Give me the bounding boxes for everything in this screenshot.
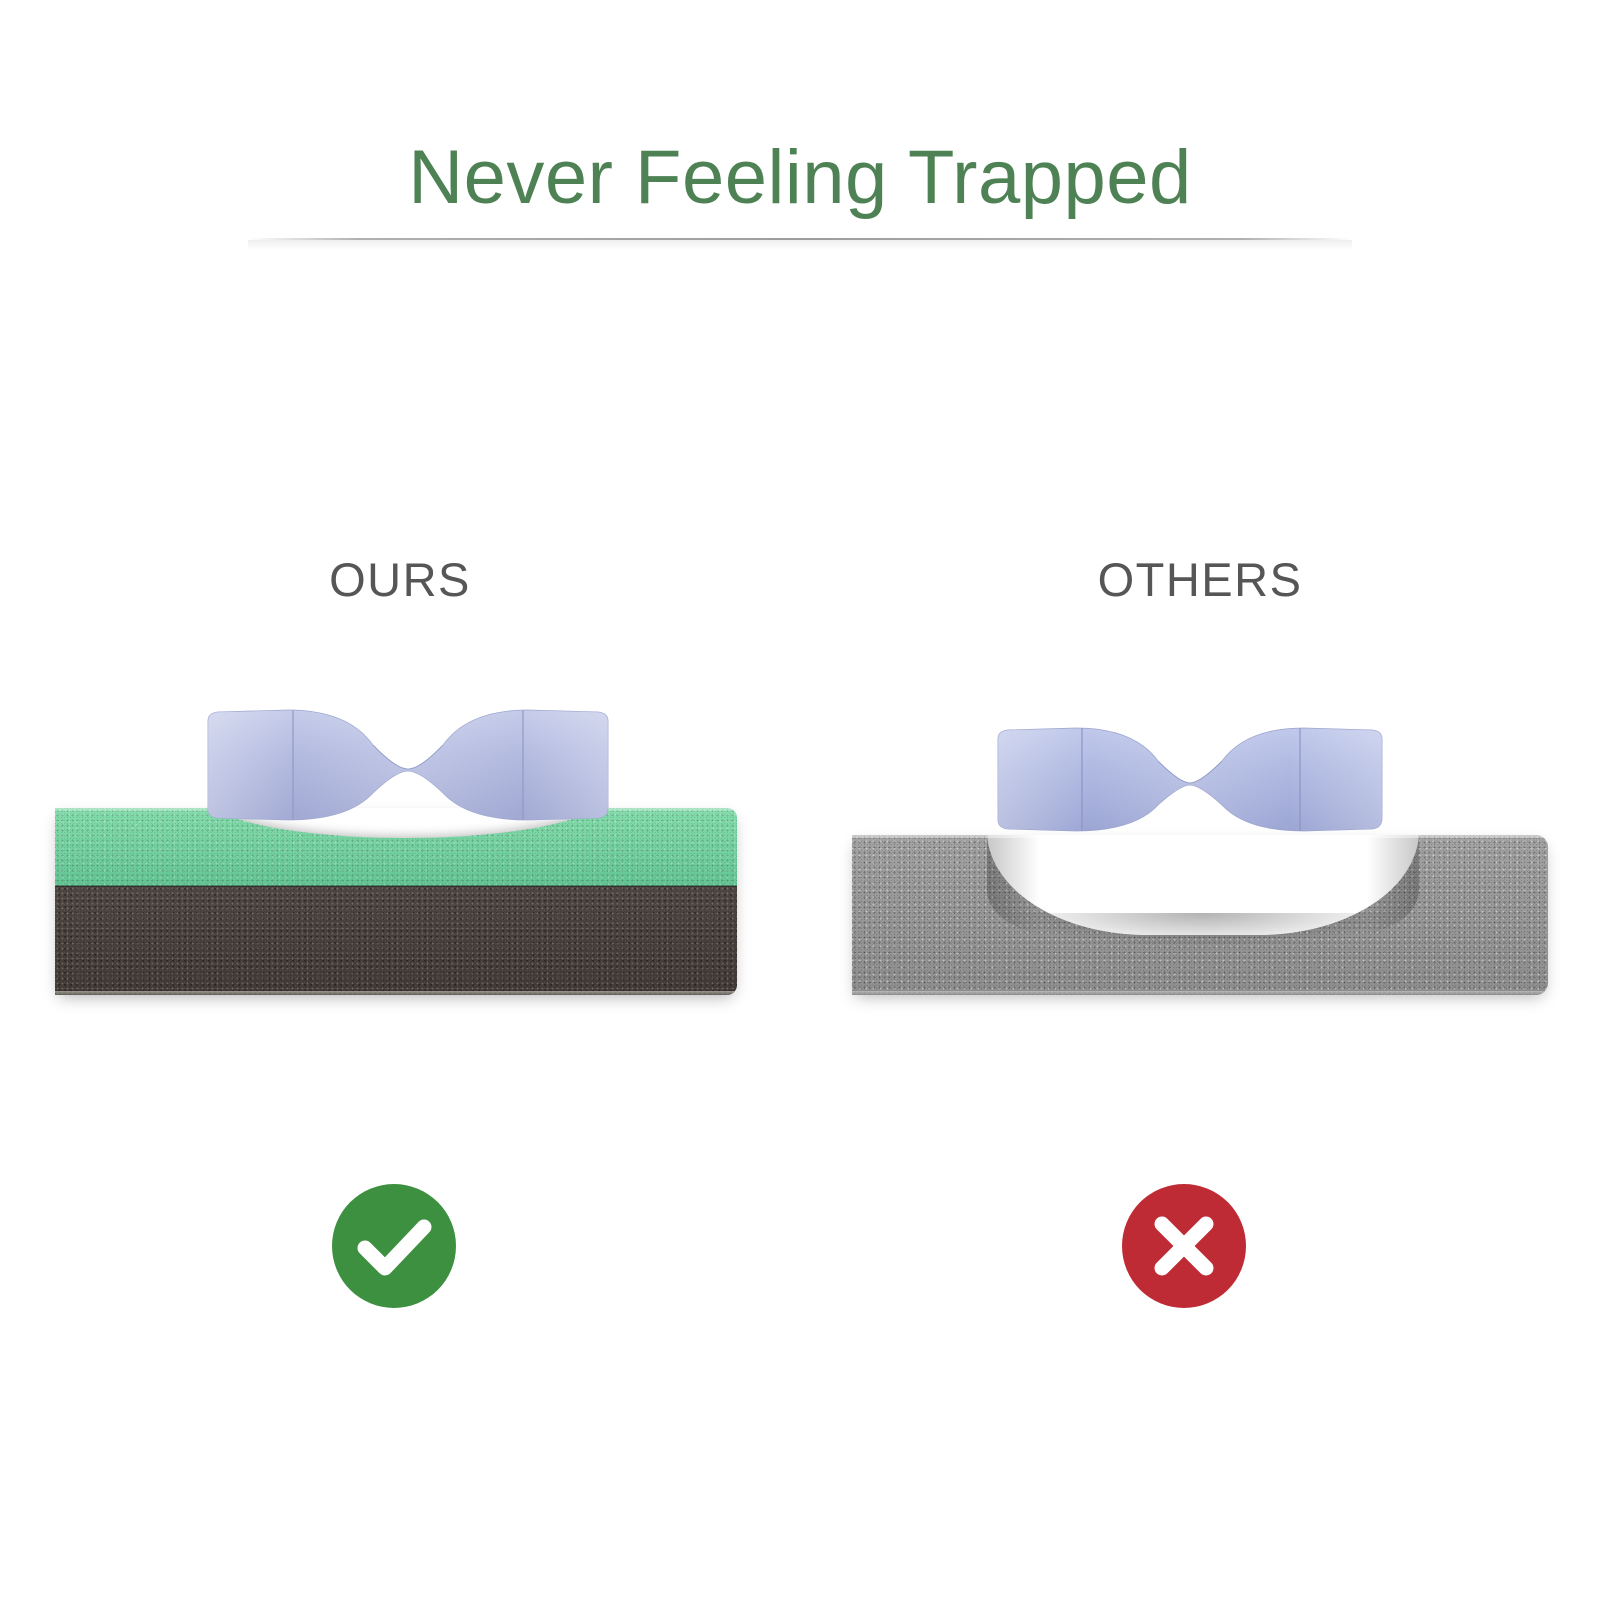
layer-seam-line (55, 885, 737, 887)
bow-tie-weight-ours (198, 707, 618, 825)
panel-others (800, 690, 1600, 1020)
column-label-others: OTHERS (800, 552, 1600, 607)
title-divider-glow (248, 240, 1352, 250)
mattress-cross-section-ours (55, 808, 737, 995)
bow-tie-weight-others (990, 725, 1390, 835)
bottom-edge-trim (852, 991, 1548, 995)
foam-layer-base-dark (55, 886, 737, 995)
page-title: Never Feeling Trapped (0, 140, 1600, 216)
x-circle-icon (1122, 1184, 1246, 1308)
verdict-badge-ours (332, 1184, 456, 1308)
header: Never Feeling Trapped (0, 0, 1600, 250)
top-edge-highlight (852, 835, 1548, 838)
column-label-ours: OURS (0, 552, 800, 607)
panel-ours (0, 690, 800, 1020)
verdict-badge-others (1122, 1184, 1246, 1308)
bottom-edge-trim (55, 991, 737, 995)
check-circle-icon (332, 1184, 456, 1308)
mattress-cross-section-others (852, 835, 1548, 995)
cavity-floor-shadow (1002, 913, 1402, 947)
